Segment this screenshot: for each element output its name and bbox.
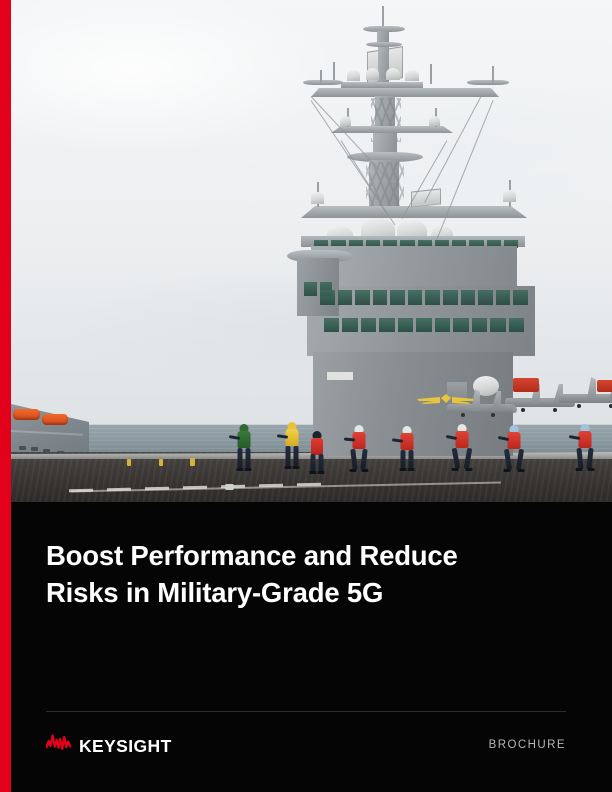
sailor-legs [237, 448, 250, 469]
sailor-helmet [239, 424, 248, 431]
brochure-cover-page: Boost Performance and Reduce Risks in Mi… [0, 0, 612, 792]
antenna-dome [429, 116, 440, 126]
mast-antenna-whip [382, 6, 384, 28]
parked-aircraft [447, 392, 517, 422]
page-title-line-1: Boost Performance and Reduce [46, 538, 546, 575]
sailor-red-shirt-1 [311, 431, 323, 471]
mast-lower-truss [366, 162, 404, 212]
sailor-helmet [580, 424, 589, 431]
sailor-vest [311, 438, 323, 455]
sailor-legs [311, 454, 324, 472]
sailor-red-shirt-2 [352, 425, 365, 471]
sailor-red-shirt-3 [400, 426, 413, 470]
antenna-dome [405, 70, 419, 81]
yardarm-outrigger [303, 80, 343, 85]
sailor-helmet [287, 422, 296, 429]
sailor-red-shirt-4 [455, 424, 468, 471]
footer: KEYSIGHT BROCHURE [0, 728, 612, 772]
page-title-line-2: Risks in Military-Grade 5G [46, 575, 546, 612]
mast-antenna-whip [320, 70, 322, 84]
island-signboard [327, 372, 353, 380]
yardarm-outrigger [467, 80, 509, 85]
upper-yardarm-platform [311, 88, 499, 97]
keysight-logo: KEYSIGHT [46, 734, 172, 759]
lower-yardarm-platform [331, 126, 453, 133]
sailor-green-shirt [237, 424, 250, 469]
sailor-legs [578, 448, 591, 469]
sailor-legs [507, 449, 520, 470]
sailor-yellow-shirt [285, 422, 298, 469]
bridge-window-band-upper [317, 290, 531, 305]
cover-photo [11, 0, 612, 502]
cover-content-panel: Boost Performance and Reduce Risks in Mi… [0, 502, 612, 792]
mast-antenna-whip [430, 64, 432, 84]
page-title: Boost Performance and Reduce Risks in Mi… [46, 538, 546, 612]
document-type-label: BROCHURE [489, 739, 566, 751]
sailor-vest [507, 432, 520, 449]
brand-accent-stripe [0, 0, 11, 792]
antenna-dome [311, 192, 324, 204]
sailor-vest [578, 431, 591, 448]
radar-pedestal [378, 47, 389, 87]
sailor-helmet [509, 425, 518, 432]
keysight-waveform-mark-icon [46, 734, 72, 759]
sailor-vest [455, 431, 468, 448]
antenna-dome [386, 68, 400, 80]
keysight-wordmark: KEYSIGHT [79, 736, 172, 757]
sailor-red-shirt-6 [578, 424, 591, 471]
sailor-legs [352, 449, 365, 470]
antenna-dome [340, 116, 351, 126]
antenna-dome [366, 68, 379, 80]
sailor-helmet [457, 424, 466, 431]
cover-photo-scene [11, 0, 612, 502]
sailor-helmet [354, 425, 363, 432]
sailor-legs [400, 450, 413, 469]
bridge-window-band-lower [321, 318, 527, 332]
rigging-wire [436, 100, 493, 239]
sailor-helmet [402, 426, 411, 433]
sailor-helmet [313, 431, 322, 438]
sailor-red-shirt-5 [507, 425, 520, 471]
mast-antenna-whip [492, 66, 494, 84]
sailor-legs [285, 446, 298, 467]
deck-support-vehicle [597, 380, 612, 392]
antenna-dome [347, 70, 360, 81]
deck-support-vehicle [513, 378, 539, 392]
footer-divider [46, 711, 566, 712]
carrier-island-superstructure [11, 0, 612, 502]
antenna-dome [503, 190, 516, 202]
sailor-legs [455, 448, 468, 469]
flag-bridge-platform [301, 206, 527, 218]
upper-antenna-platform [341, 82, 423, 88]
